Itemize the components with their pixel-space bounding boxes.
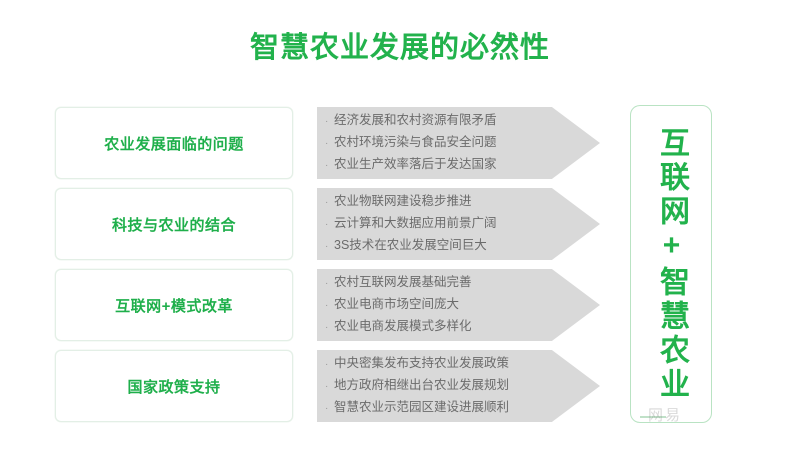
list-item: · 地方政府相继出台农业发展规划 bbox=[325, 376, 555, 396]
list-item-text: 智慧农业示范园区建设进展顺利 bbox=[334, 398, 509, 416]
list-item-text: 3S技术在农业发展空间巨大 bbox=[334, 236, 487, 254]
bullet-dot-icon: · bbox=[325, 378, 334, 396]
bullet-dot-icon: · bbox=[325, 135, 334, 153]
conclusion-panel-text: 互联网+智慧农业 bbox=[654, 119, 688, 409]
bullet-dot-icon: · bbox=[325, 216, 334, 234]
list-item: · 3S技术在农业发展空间巨大 bbox=[325, 236, 555, 256]
list-item: · 云计算和大数据应用前景广阔 bbox=[325, 214, 555, 234]
bullet-list-0: · 经济发展和农村资源有限矛盾 · 农村环境污染与食品安全问题 · 农业生产效率… bbox=[325, 107, 555, 179]
list-item-text: 农村环境污染与食品安全问题 bbox=[334, 133, 497, 151]
page-title: 智慧农业发展的必然性 bbox=[0, 24, 800, 66]
bullet-dot-icon: · bbox=[325, 275, 334, 293]
category-card-3[interactable]: 国家政策支持 bbox=[55, 350, 293, 422]
bullet-dot-icon: · bbox=[325, 297, 334, 315]
bullet-dot-icon: · bbox=[325, 400, 334, 418]
category-card-0[interactable]: 农业发展面临的问题 bbox=[55, 107, 293, 179]
category-label: 互联网+模式改革 bbox=[115, 295, 233, 316]
list-item: · 农业电商市场空间庞大 bbox=[325, 295, 555, 315]
bullet-list-1: · 农业物联网建设稳步推进 · 云计算和大数据应用前景广阔 · 3S技术在农业发… bbox=[325, 188, 555, 260]
bullet-dot-icon: · bbox=[325, 319, 334, 337]
conclusion-panel[interactable]: 互联网+智慧农业 bbox=[630, 105, 712, 423]
list-item-text: 农业电商市场空间庞大 bbox=[334, 295, 459, 313]
list-item-text: 农业电商发展模式多样化 bbox=[334, 317, 472, 335]
list-item: · 农村互联网发展基础完善 bbox=[325, 273, 555, 293]
watermark-rule bbox=[640, 416, 666, 418]
list-item-text: 农业生产效率落后于发达国家 bbox=[334, 155, 497, 173]
list-item: · 智慧农业示范园区建设进展顺利 bbox=[325, 398, 555, 418]
category-card-2[interactable]: 互联网+模式改革 bbox=[55, 269, 293, 341]
list-item-text: 云计算和大数据应用前景广阔 bbox=[334, 214, 497, 232]
list-item: · 中央密集发布支持农业发展政策 bbox=[325, 354, 555, 374]
bullet-dot-icon: · bbox=[325, 356, 334, 374]
bullet-dot-icon: · bbox=[325, 113, 334, 131]
category-label: 科技与农业的结合 bbox=[112, 214, 236, 235]
list-item-text: 农村互联网发展基础完善 bbox=[334, 273, 472, 291]
list-item-text: 地方政府相继出台农业发展规划 bbox=[334, 376, 509, 394]
list-item: · 农业电商发展模式多样化 bbox=[325, 317, 555, 337]
list-item-text: 经济发展和农村资源有限矛盾 bbox=[334, 111, 497, 129]
slide-canvas: 智慧农业发展的必然性 农业发展面临的问题 · 经济发展和农村资源有限矛盾 · 农… bbox=[0, 0, 800, 449]
list-item-text: 中央密集发布支持农业发展政策 bbox=[334, 354, 509, 372]
category-label: 国家政策支持 bbox=[127, 376, 220, 397]
list-item-text: 农业物联网建设稳步推进 bbox=[334, 192, 472, 210]
bullet-dot-icon: · bbox=[325, 157, 334, 175]
bullet-list-2: · 农村互联网发展基础完善 · 农业电商市场空间庞大 · 农业电商发展模式多样化 bbox=[325, 269, 555, 341]
category-label: 农业发展面临的问题 bbox=[104, 133, 244, 154]
bullet-dot-icon: · bbox=[325, 194, 334, 212]
list-item: · 经济发展和农村资源有限矛盾 bbox=[325, 111, 555, 131]
category-card-1[interactable]: 科技与农业的结合 bbox=[55, 188, 293, 260]
bullet-dot-icon: · bbox=[325, 238, 334, 256]
list-item: · 农业物联网建设稳步推进 bbox=[325, 192, 555, 212]
list-item: · 农村环境污染与食品安全问题 bbox=[325, 133, 555, 153]
bullet-list-3: · 中央密集发布支持农业发展政策 · 地方政府相继出台农业发展规划 · 智慧农业… bbox=[325, 350, 555, 422]
list-item: · 农业生产效率落后于发达国家 bbox=[325, 155, 555, 175]
